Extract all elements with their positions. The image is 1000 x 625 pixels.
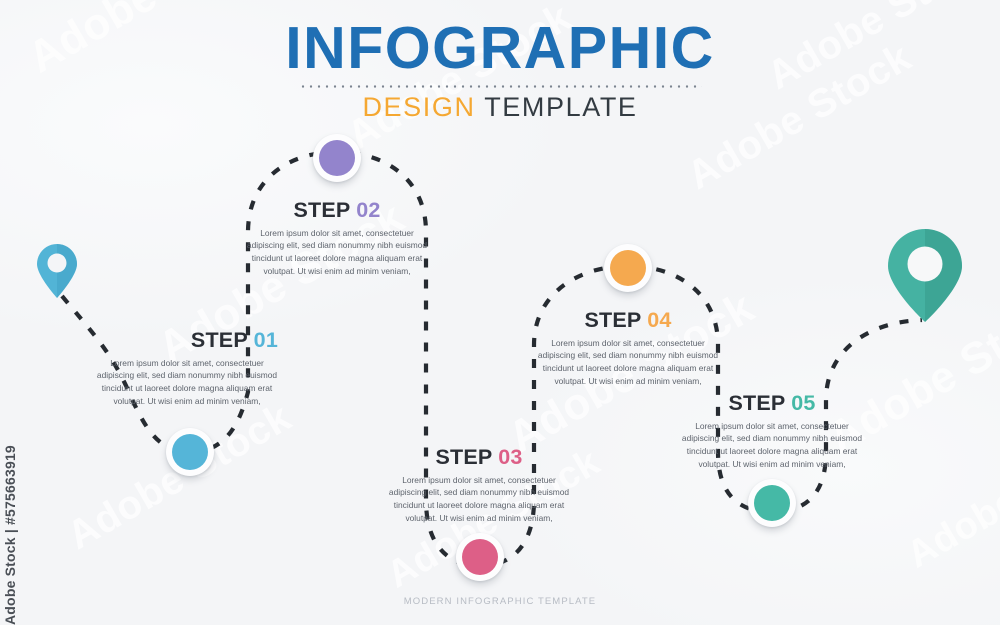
step-body-04: Lorem ipsum dolor sit amet, consectetuer… <box>537 337 719 388</box>
node-dot-01 <box>172 434 208 470</box>
location-pin-icon <box>36 243 78 299</box>
node-dot-03 <box>462 539 498 575</box>
step-label-05: STEP <box>728 391 785 415</box>
step-label-02: STEP <box>293 198 350 222</box>
step-heading-02: STEP 02 <box>246 200 428 222</box>
location-pin-icon <box>887 228 963 324</box>
subtitle-design: DESIGN <box>362 92 475 122</box>
node-dot-02 <box>319 140 355 176</box>
step-heading-05: STEP 05 <box>681 393 863 415</box>
map-pin-start <box>36 243 78 304</box>
step-label-04: STEP <box>584 308 641 332</box>
map-pin-end <box>887 228 963 329</box>
infographic-canvas: Adobe StockAdobe StockAdobe StockAdobe S… <box>0 0 1000 625</box>
step-node-04[interactable] <box>604 244 652 292</box>
step-heading-04: STEP 04 <box>537 310 719 332</box>
step-number-04: 04 <box>647 308 671 332</box>
page-title: INFOGRAPHIC <box>0 18 1000 80</box>
step-node-02[interactable] <box>313 134 361 182</box>
title-block: INFOGRAPHIC DESIGN TEMPLATE <box>0 18 1000 123</box>
step-label-03: STEP <box>435 445 492 469</box>
step-number-03: 03 <box>498 445 522 469</box>
step-body-05: Lorem ipsum dolor sit amet, consectetuer… <box>681 420 863 471</box>
step-number-01: 01 <box>254 328 278 352</box>
step-heading-03: STEP 03 <box>388 447 570 469</box>
node-dot-04 <box>610 250 646 286</box>
stock-credit-label: Adobe Stock | #575663919 <box>2 445 18 625</box>
title-dotted-rule <box>299 85 702 88</box>
step-node-03[interactable] <box>456 533 504 581</box>
step-heading-01: STEP 01 <box>96 330 278 352</box>
step-label-01: STEP <box>191 328 248 352</box>
step-card-02[interactable]: STEP 02 Lorem ipsum dolor sit amet, cons… <box>246 200 428 278</box>
step-body-03: Lorem ipsum dolor sit amet, consectetuer… <box>388 474 570 525</box>
step-card-04[interactable]: STEP 04 Lorem ipsum dolor sit amet, cons… <box>537 310 719 388</box>
step-body-02: Lorem ipsum dolor sit amet, consectetuer… <box>246 227 428 278</box>
footer-caption: MODERN INFOGRAPHIC TEMPLATE <box>0 596 1000 607</box>
step-node-01[interactable] <box>166 428 214 476</box>
page-subtitle: DESIGN TEMPLATE <box>0 92 1000 123</box>
step-card-05[interactable]: STEP 05 Lorem ipsum dolor sit amet, cons… <box>681 393 863 471</box>
step-number-02: 02 <box>356 198 380 222</box>
step-number-05: 05 <box>791 391 815 415</box>
step-card-01[interactable]: STEP 01 Lorem ipsum dolor sit amet, cons… <box>96 330 278 408</box>
step-node-05[interactable] <box>748 479 796 527</box>
node-dot-05 <box>754 485 790 521</box>
step-card-03[interactable]: STEP 03 Lorem ipsum dolor sit amet, cons… <box>388 447 570 525</box>
step-body-01: Lorem ipsum dolor sit amet, consectetuer… <box>96 357 278 408</box>
subtitle-template: TEMPLATE <box>476 92 638 122</box>
